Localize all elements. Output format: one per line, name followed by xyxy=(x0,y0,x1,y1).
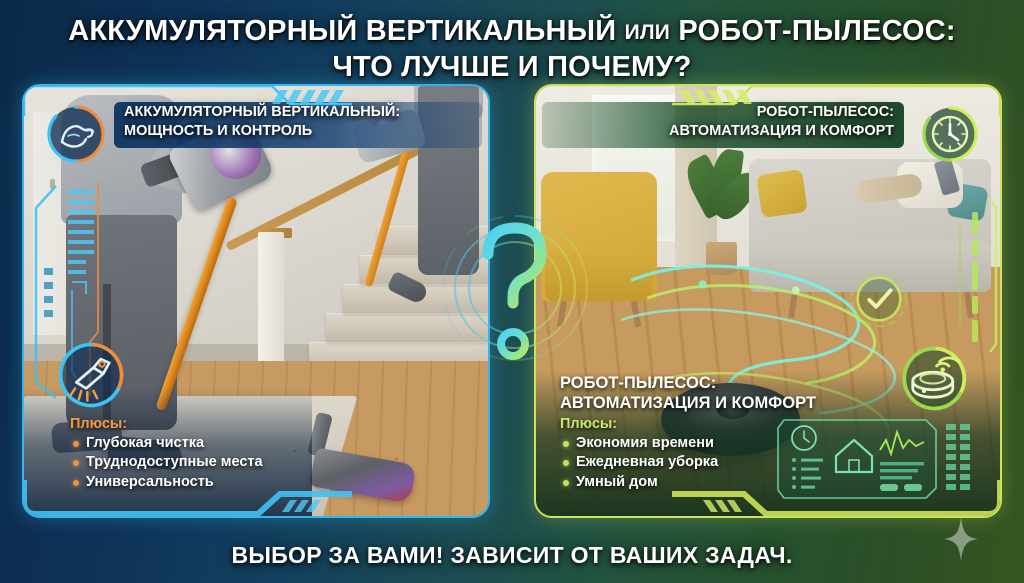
panel-robot-vacuum: РОБОТ-ПЫЛЕСОС: АВТОМАТИЗАЦИЯ И КОМФОРТ xyxy=(534,84,1002,518)
infographic-canvas: АККУМУЛЯТОРНЫЙ ВЕРТИКАЛЬНЫЙ ИЛИ РОБОТ-ПЫ… xyxy=(0,0,1024,583)
right-pros-label: Плюсы: xyxy=(560,416,816,432)
right-pros-list: Экономия времени Ежедневная уборка Умный… xyxy=(560,434,816,493)
footer-text: ВЫБОР ЗА ВАМИ! ЗАВИСИТ ОТ ВАШИХ ЗАДАЧ. xyxy=(0,542,1024,569)
list-item: Ежедневная уборка xyxy=(560,453,816,473)
title-line-1: АККУМУЛЯТОРНЫЙ ВЕРТИКАЛЬНЫЙ ИЛИ РОБОТ-ПЫ… xyxy=(0,14,1024,50)
page-title: АККУМУЛЯТОРНЫЙ ВЕРТИКАЛЬНЫЙ ИЛИ РОБОТ-ПЫ… xyxy=(0,14,1024,85)
vacuum-head-icon xyxy=(52,336,130,414)
title-line-2: ЧТО ЛУЧШЕ И ПОЧЕМУ? xyxy=(0,50,1024,85)
second-vacuum-body xyxy=(351,107,428,164)
door-knob xyxy=(50,179,55,189)
second-vacuum-wand xyxy=(364,145,412,288)
check-circle-icon xyxy=(848,268,910,330)
footer-banner: ВЫБОР ЗА ВАМИ! ЗАВИСИТ ОТ ВАШИХ ЗАДАЧ. xyxy=(0,542,1024,569)
bicep-flex-icon xyxy=(44,102,108,166)
clock-icon xyxy=(918,102,982,166)
second-vacuum xyxy=(349,112,433,310)
right-text-block: РОБОТ-ПЫЛЕСОС: АВТОМАТИЗАЦИЯ И КОМФОРТ П… xyxy=(560,373,816,493)
list-item: Универсальность xyxy=(70,473,263,493)
question-mark-icon xyxy=(440,196,590,386)
list-item: Труднодоступные места xyxy=(70,453,263,473)
second-vacuum-head xyxy=(387,271,430,306)
right-body-title-line-2: АВТОМАТИЗАЦИЯ И КОМФОРТ xyxy=(560,393,816,413)
title-part-1: АККУМУЛЯТОРНЫЙ ВЕРТИКАЛЬНЫЙ xyxy=(68,15,616,47)
title-part-2: РОБОТ-ПЫЛЕСОС: xyxy=(678,15,955,47)
left-pros-block: Плюсы: Глубокая чистка Труднодоступные м… xyxy=(70,413,263,493)
list-item: Глубокая чистка xyxy=(70,434,263,454)
robot-vacuum-wifi-icon xyxy=(894,336,974,416)
title-conjunction: ИЛИ xyxy=(625,21,671,44)
right-body-title-line-1: РОБОТ-ПЫЛЕСОС: xyxy=(560,373,816,393)
list-item: Экономия времени xyxy=(560,434,816,454)
left-pros-list: Глубокая чистка Труднодоступные места Ун… xyxy=(70,434,263,493)
second-vacuum-cyclone xyxy=(372,114,400,127)
left-pros-label: Плюсы: xyxy=(70,416,263,432)
list-item: Умный дом xyxy=(560,473,816,493)
panel-cordless-stick-vacuum: АККУМУЛЯТОРНЫЙ ВЕРТИКАЛЬНЫЙ: МОЩНОСТЬ И … xyxy=(22,84,490,518)
